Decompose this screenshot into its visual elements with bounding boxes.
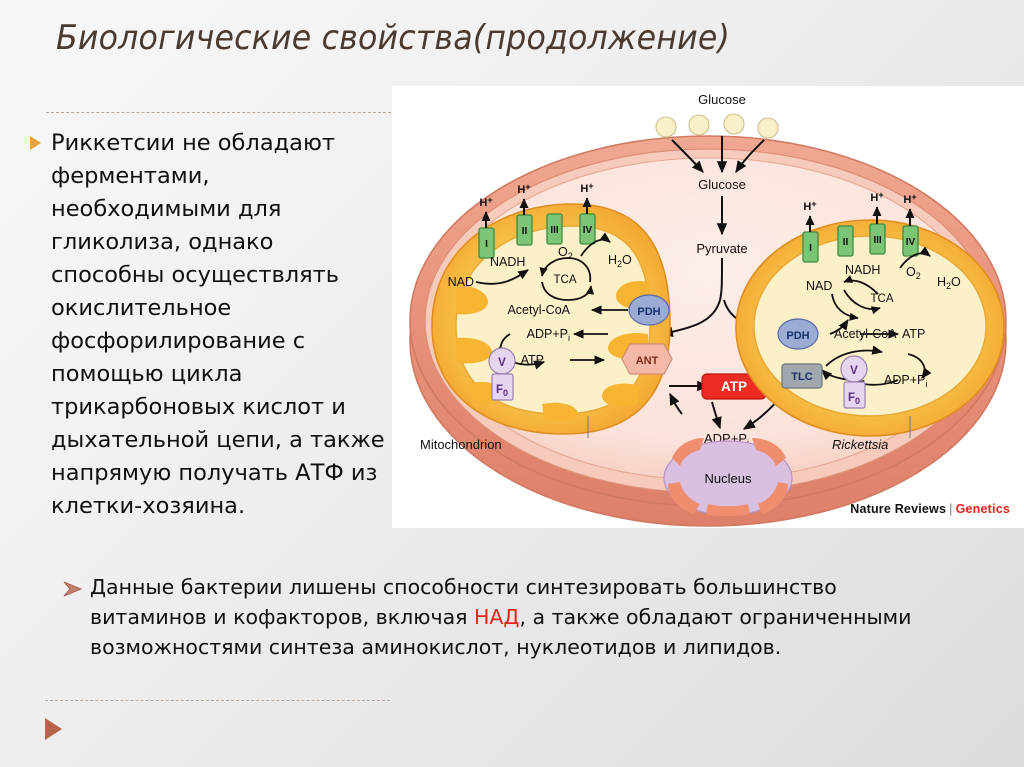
tlc-transporter: TLC xyxy=(782,364,822,388)
bottom-paragraph-block: Данные бактерии лишены способности синте… xyxy=(62,572,962,662)
figure-panel: Glucose Glucose Pyruvate ATP ADP+Pi Nucl… xyxy=(392,86,1024,528)
atp-synthase-mito: V F0 xyxy=(489,348,515,400)
label-v-rick: V xyxy=(850,365,858,377)
triangle-bullet-bottom-icon xyxy=(45,718,62,740)
complex-label-rick-I: I xyxy=(809,243,812,254)
credit-separator: | xyxy=(949,502,952,516)
complex-label-III: III xyxy=(550,225,559,236)
figure-credit: Nature Reviews|Genetics xyxy=(850,502,1010,516)
label-adp-rick: ADP+Pi xyxy=(884,373,927,389)
bottom-paragraph-highlight: НАД xyxy=(474,605,519,629)
label-nad-rick: NAD xyxy=(806,279,832,293)
bottom-paragraph: Данные бактерии лишены способности синте… xyxy=(90,572,960,662)
label-mitochondrion: Mitochondrion xyxy=(420,437,502,452)
label-nadh-rick: NADH xyxy=(845,263,880,277)
label-pyruvate: Pyruvate xyxy=(696,241,747,256)
nucleus: Nucleus xyxy=(664,438,792,516)
triangle-bullet-icon xyxy=(30,136,41,150)
label-nadh-mito: NADH xyxy=(490,255,525,269)
label-nucleus: Nucleus xyxy=(705,471,752,486)
complex-label-rick-II: II xyxy=(843,237,849,248)
label-acetylcoa-rick: Acetyl-CoA xyxy=(834,327,897,341)
ant-transporter: ANT xyxy=(622,344,672,374)
complex-label-rick-III: III xyxy=(873,235,882,246)
bullet-text: Риккетсии не обладают ферментами, необхо… xyxy=(51,127,386,523)
credit-journal: Genetics xyxy=(956,502,1010,516)
label-adp-mito: ADP+Pi xyxy=(527,327,570,343)
label-tca-mito: TCA xyxy=(554,274,577,286)
list-item: Риккетсии не обладают ферментами, необхо… xyxy=(8,127,386,523)
label-tlc: TLC xyxy=(791,371,812,383)
page-title: Биологические свойства(продолжение) xyxy=(56,18,893,58)
left-bullet-column: Риккетсии не обладают ферментами, необхо… xyxy=(8,112,386,523)
label-nad-mito: NAD xyxy=(448,275,474,289)
complex-label-IV: IV xyxy=(583,225,593,236)
label-glucose-inside: Glucose xyxy=(698,177,746,192)
label-pdh-mito: PDH xyxy=(637,306,660,318)
label-atp-mito: ATP xyxy=(521,353,544,367)
divider-dashed-top xyxy=(46,112,391,113)
label-v-mito: V xyxy=(498,357,506,369)
label-atp-rick: ATP xyxy=(902,327,925,341)
arrow-bullet-icon xyxy=(62,580,84,600)
glucose-molecules xyxy=(656,114,778,138)
pdh-mito: PDH xyxy=(629,295,669,325)
label-glucose-outside: Glucose xyxy=(698,92,746,107)
atp-synthase-rick: V F0 xyxy=(841,356,867,408)
credit-source: Nature Reviews xyxy=(850,502,946,516)
label-acetylcoa-mito: Acetyl-CoA xyxy=(507,303,570,317)
label-central-atp: ATP xyxy=(721,379,747,394)
divider-dashed-bottom xyxy=(45,700,390,701)
label-pdh-rick: PDH xyxy=(786,330,809,342)
label-tca-rick: TCA xyxy=(871,293,894,305)
complex-label-I: I xyxy=(485,239,488,250)
complex-label-II: II xyxy=(522,226,528,237)
complex-label-rick-IV: IV xyxy=(906,237,916,248)
cell-metabolism-diagram: Glucose Glucose Pyruvate ATP ADP+Pi Nucl… xyxy=(392,86,1024,528)
slide-root: Биологические свойства(продолжение) Рикк… xyxy=(0,0,1024,767)
label-ant: ANT xyxy=(636,355,659,367)
pdh-rick: PDH xyxy=(778,319,818,349)
label-rickettsia: Rickettsia xyxy=(832,437,888,452)
